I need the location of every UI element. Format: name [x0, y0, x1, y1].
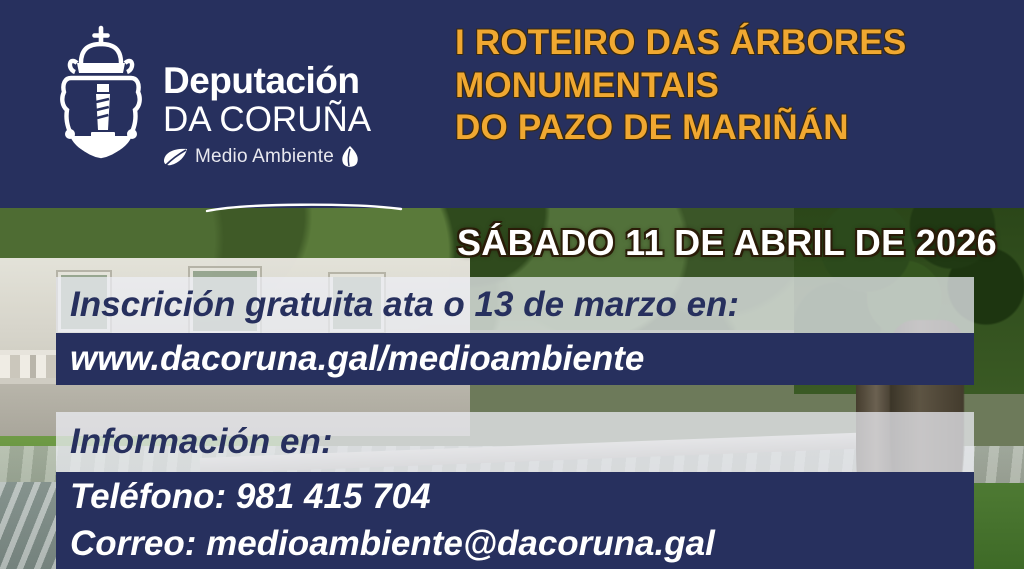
swoosh-underline-icon: [205, 202, 405, 216]
contact-email[interactable]: Correo: medioambiente@dacoruna.gal: [70, 521, 715, 568]
deputacion-logo[interactable]: Deputación DA CORUÑA Medio Ambiente: [55, 22, 371, 169]
logo-medio-ambiente-row: Medio Ambiente: [163, 145, 371, 169]
coat-of-arms-crowned-shield-tower-icon: [55, 22, 147, 162]
title-line-2: MONUMENTAIS: [455, 65, 1015, 108]
page-title: I ROTEIRO DAS ÁRBORES MONUMENTAIS DO PAZ…: [455, 22, 1015, 150]
website-link[interactable]: www.dacoruna.gal/medioambiente: [56, 333, 974, 385]
leaf-drop-icon: [340, 145, 360, 169]
title-line-3: DO PAZO DE MARIÑÁN: [455, 107, 1015, 150]
title-line-1: I ROTEIRO DAS ÁRBORES: [455, 22, 1015, 65]
information-label: Información en:: [56, 412, 974, 472]
header-bar: Deputación DA CORUÑA Medio Ambiente: [0, 0, 1024, 208]
logo-line-deputacion: Deputación: [163, 62, 371, 99]
leaf-icon: [163, 147, 189, 167]
contact-phone[interactable]: Teléfono: 981 415 704: [70, 474, 431, 521]
registration-label: Inscrición gratuita ata o 13 de marzo en…: [56, 277, 974, 333]
event-date: SÁBADO 11 DE ABRIL DE 2026: [457, 222, 997, 264]
poster: Deputación DA CORUÑA Medio Ambiente: [0, 0, 1024, 569]
logo-wordmark: Deputación DA CORUÑA Medio Ambiente: [163, 22, 371, 169]
logo-line-da-coruna: DA CORUÑA: [163, 101, 371, 140]
contact-block: Teléfono: 981 415 704 Correo: medioambie…: [56, 472, 974, 569]
logo-line-medio-ambiente: Medio Ambiente: [195, 146, 334, 168]
